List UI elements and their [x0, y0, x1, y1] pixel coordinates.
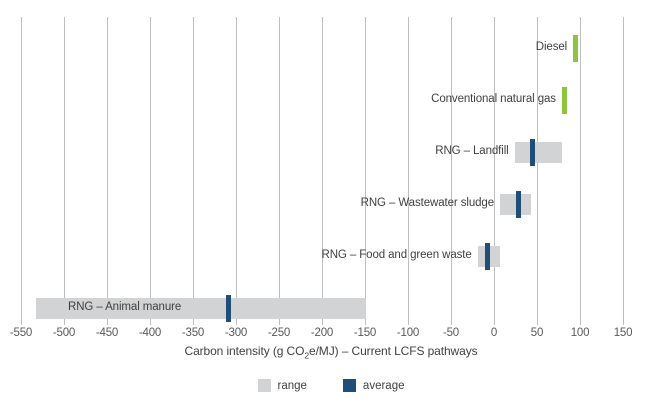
legend-item[interactable]: range — [258, 379, 307, 392]
chart-bar-row: RNG – Landfill — [0, 126, 662, 178]
range-bar — [515, 142, 562, 163]
bar-category-label: RNG – Animal manure — [68, 301, 181, 313]
bar-category-label: RNG – Wastewater sludge — [361, 197, 494, 209]
legend-label: average — [363, 380, 405, 392]
legend-item[interactable]: average — [343, 379, 405, 392]
chart-container: -550-500-450-400-350-300-250-200-150-100… — [0, 0, 662, 414]
x-axis-title-post: e/MJ) – Current LCFS pathways — [309, 344, 478, 358]
x-axis-title-pre: Carbon intensity (g CO — [185, 344, 305, 358]
reference-fuel-bar — [562, 87, 567, 114]
average-marker — [485, 243, 490, 270]
chart-legend: rangeaverage — [0, 379, 662, 392]
legend-swatch-icon — [343, 379, 356, 392]
chart-bar-row: RNG – Food and green waste — [0, 230, 662, 282]
legend-swatch-icon — [258, 379, 271, 392]
average-marker — [226, 295, 231, 322]
bar-category-label: Diesel — [536, 41, 567, 53]
x-axis-title: Carbon intensity (g CO2e/MJ) – Current L… — [0, 344, 662, 360]
average-marker — [530, 139, 535, 166]
average-marker — [516, 191, 521, 218]
chart-bar-row: RNG – Wastewater sludge — [0, 178, 662, 230]
chart-bar-row: Diesel — [0, 22, 662, 74]
bar-category-label: RNG – Landfill — [435, 145, 508, 157]
reference-fuel-bar — [573, 35, 578, 62]
bar-category-label: Conventional natural gas — [431, 93, 556, 105]
chart-bar-row: RNG – Animal manure — [0, 282, 662, 334]
legend-label: range — [278, 380, 307, 392]
chart-bar-row: Conventional natural gas — [0, 74, 662, 126]
bar-category-label: RNG – Food and green waste — [321, 249, 471, 261]
